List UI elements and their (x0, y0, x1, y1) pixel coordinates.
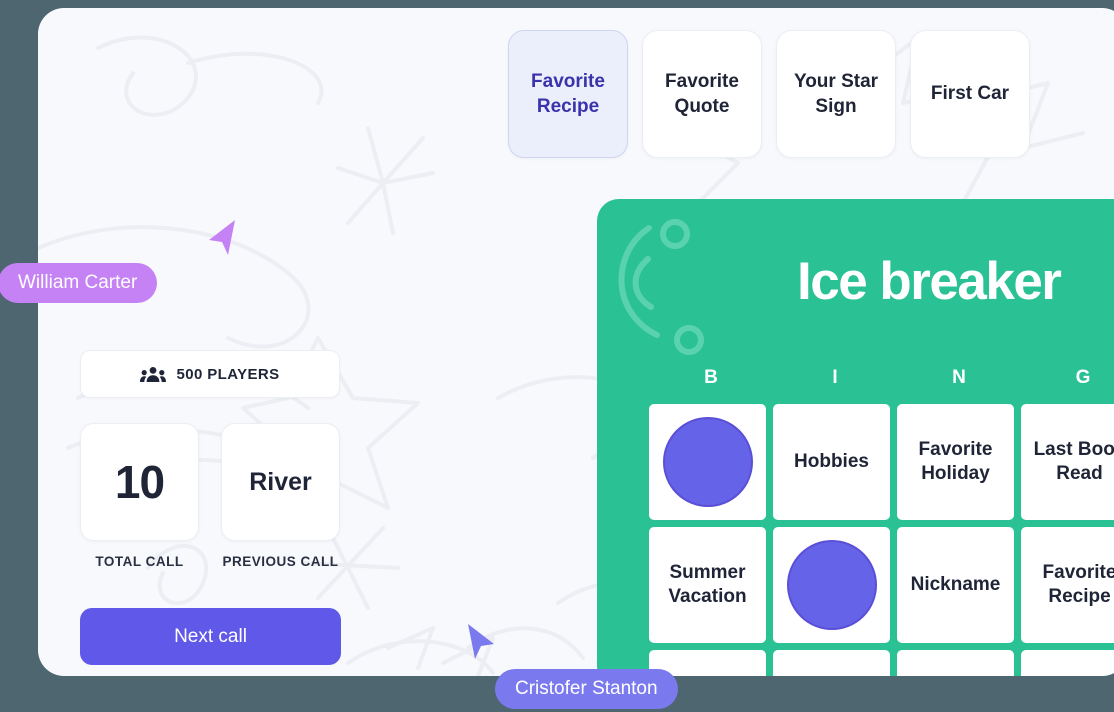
category-chip-favorite-quote[interactable]: Favorite Quote (642, 30, 762, 158)
people-group-icon (140, 366, 166, 383)
total-call-value: 10 (115, 455, 164, 509)
call-stats-row: 10 TOTAL CALL River PREVIOUS CALL (80, 423, 340, 569)
bingo-header-b: B (649, 367, 773, 389)
bingo-cell[interactable]: Favorite Holiday (897, 404, 1014, 520)
bingo-card: Ice breaker B I N G Hobbies Favorite Hol… (597, 199, 1114, 676)
bingo-cell[interactable]: Last Book Read (1021, 404, 1114, 520)
bingo-column-headers: B I N G (649, 367, 1114, 389)
previous-call-caption: PREVIOUS CALL (222, 554, 338, 569)
bingo-cell[interactable]: Summer Vacation (649, 527, 766, 643)
previous-call-box: River (221, 423, 340, 541)
bingo-cell[interactable] (773, 650, 890, 676)
bingo-header-i: I (773, 367, 897, 389)
bingo-cell[interactable] (1021, 650, 1114, 676)
previous-call-stat: River PREVIOUS CALL (221, 423, 340, 569)
bingo-header-g: G (1021, 367, 1114, 389)
bingo-header-n: N (897, 367, 1021, 389)
previous-call-value: River (249, 468, 312, 497)
bingo-cell[interactable]: Nickname (897, 527, 1014, 643)
category-chip-first-car[interactable]: First Car (910, 30, 1030, 158)
presence-name-cristofer-stanton: Cristofer Stanton (495, 669, 678, 709)
bingo-cell[interactable] (649, 404, 766, 520)
bingo-cell[interactable] (897, 650, 1014, 676)
category-chip-row: Favorite Recipe Favorite Quote Your Star… (508, 30, 1030, 158)
app-panel: Favorite Recipe Favorite Quote Your Star… (38, 8, 1114, 676)
total-call-caption: TOTAL CALL (95, 554, 183, 569)
total-call-box: 10 (80, 423, 199, 541)
category-chip-favorite-recipe[interactable]: Favorite Recipe (508, 30, 628, 158)
total-call-stat: 10 TOTAL CALL (80, 423, 199, 569)
category-chip-your-star-sign[interactable]: Your Star Sign (776, 30, 896, 158)
players-count-label: 500 PLAYERS (176, 366, 279, 383)
bingo-marker-icon (787, 540, 877, 630)
bingo-grid: Hobbies Favorite Holiday Last Book Read … (649, 404, 1114, 676)
bingo-cell[interactable]: Favorite Recipe (1021, 527, 1114, 643)
bingo-cell[interactable]: Hobbies (773, 404, 890, 520)
presence-name-william-carter: William Carter (0, 263, 157, 303)
players-count-pill[interactable]: 500 PLAYERS (80, 350, 340, 398)
next-call-button[interactable]: Next call (80, 608, 341, 665)
bingo-cell[interactable] (773, 527, 890, 643)
bingo-marker-icon (663, 417, 753, 507)
bingo-card-title: Ice breaker (797, 251, 1060, 312)
